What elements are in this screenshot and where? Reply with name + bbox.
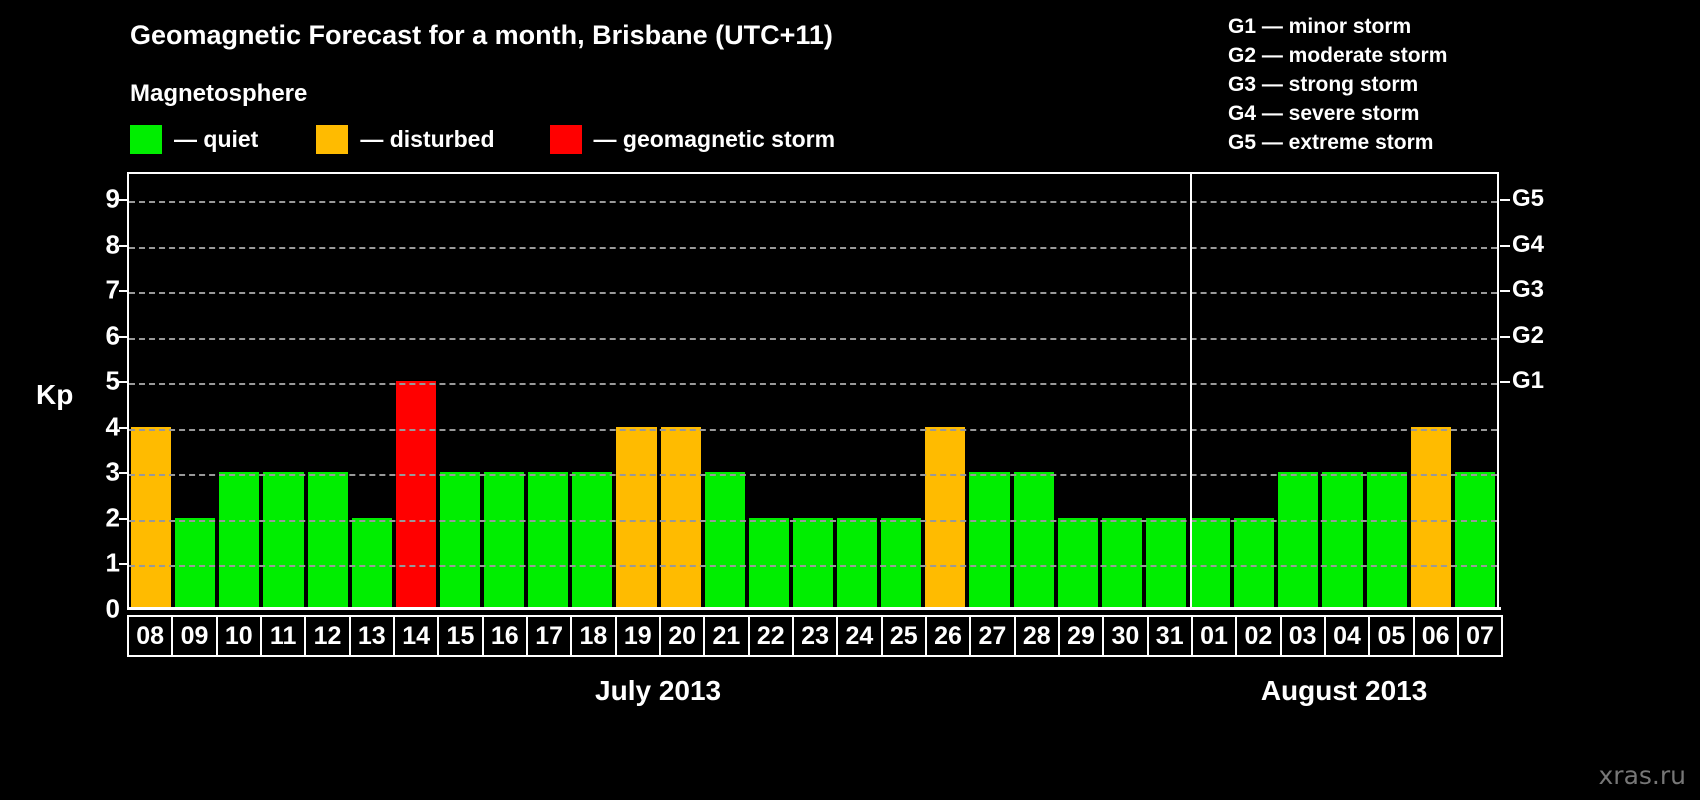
bar[interactable] [661,427,701,609]
y-tick-mark [119,199,128,201]
y-tick-label: 0 [78,594,120,625]
g-legend-row: G1 — minor storm [1228,12,1447,41]
gridline [129,429,1497,431]
y-tick-label: 1 [78,548,120,579]
y-tick-label: 8 [78,229,120,260]
bar-cell[interactable] [1276,174,1320,609]
bar-cell[interactable] [173,174,217,609]
y-tick-mark [119,290,128,292]
gridline [129,247,1497,249]
day-label[interactable]: 26 [925,615,971,657]
x-axis-line [127,607,1501,610]
g-tick-mark [1500,381,1510,383]
month-divider [1190,174,1192,609]
bar-cell[interactable] [261,174,305,609]
storm-swatch [550,125,582,154]
bar-cell[interactable] [1320,174,1364,609]
gridline [129,520,1497,522]
day-label[interactable]: 18 [570,615,616,657]
bar-cell[interactable] [570,174,614,609]
bar[interactable] [1190,518,1230,609]
bar-cell[interactable] [835,174,879,609]
bar[interactable] [749,518,789,609]
g-legend-row: G4 — severe storm [1228,99,1447,128]
day-axis: 0809101112131415161718192021222324252627… [127,615,1501,657]
bar[interactable] [1455,472,1495,609]
bar[interactable] [969,472,1009,609]
day-label[interactable]: 22 [748,615,794,657]
bar-cell[interactable] [659,174,703,609]
g-scale-legend: G1 — minor stormG2 — moderate stormG3 — … [1228,12,1447,157]
day-label[interactable]: 06 [1413,615,1459,657]
bar-cell[interactable] [1056,174,1100,609]
g-tick-mark [1500,290,1510,292]
bar[interactable] [837,518,877,609]
y-tick-label: 3 [78,457,120,488]
plot-inner [129,174,1497,609]
day-label[interactable]: 13 [349,615,395,657]
day-label[interactable]: 31 [1147,615,1193,657]
bar-cell[interactable] [923,174,967,609]
day-label[interactable]: 23 [792,615,838,657]
g-tick-label: G3 [1512,276,1544,304]
day-label[interactable]: 19 [615,615,661,657]
bar[interactable] [1014,472,1054,609]
bar[interactable] [1322,472,1362,609]
bar-cell[interactable] [747,174,791,609]
day-label[interactable]: 08 [127,615,173,657]
y-tick-label: 6 [78,320,120,351]
bar-cell[interactable] [129,174,173,609]
bar-cell[interactable] [879,174,923,609]
bar[interactable] [440,472,480,609]
day-label[interactable]: 05 [1368,615,1414,657]
watermark: xras.ru [1599,761,1687,790]
y-tick-label: 2 [78,502,120,533]
bar[interactable] [131,427,171,609]
bar-cell[interactable] [1188,174,1232,609]
bar-cell[interactable] [967,174,1011,609]
bar[interactable] [705,472,745,609]
day-label[interactable]: 30 [1102,615,1148,657]
day-label[interactable]: 25 [881,615,927,657]
y-tick-label: 5 [78,366,120,397]
bar-cell[interactable] [482,174,526,609]
y-tick-mark [119,427,128,429]
day-label[interactable]: 04 [1324,615,1370,657]
y-tick-label: 9 [78,184,120,215]
g-legend-row: G3 — strong storm [1228,70,1447,99]
disturbed-swatch [316,125,348,154]
legend-label: — disturbed [360,126,494,153]
bar-cell[interactable] [526,174,570,609]
bar-cell[interactable] [438,174,482,609]
bar[interactable] [1102,518,1142,609]
g-tick-label: G1 [1512,367,1544,395]
y-tick-mark [119,336,128,338]
legend-item: — disturbed [316,125,494,154]
bar-cell[interactable] [394,174,438,609]
bar[interactable] [1234,518,1274,609]
day-label[interactable]: 28 [1014,615,1060,657]
y-tick-mark [119,381,128,383]
gridline [129,292,1497,294]
bar[interactable] [528,472,568,609]
bar[interactable] [263,472,303,609]
bar[interactable] [793,518,833,609]
bar-cell[interactable] [1012,174,1056,609]
bar-cell[interactable] [791,174,835,609]
bar[interactable] [572,472,612,609]
legend-label: — geomagnetic storm [594,126,836,153]
day-label[interactable]: 27 [969,615,1015,657]
g-tick-label: G5 [1512,185,1544,213]
g-tick-mark [1500,336,1510,338]
bar-cell[interactable] [1232,174,1276,609]
day-label[interactable]: 07 [1457,615,1503,657]
gridline [129,338,1497,340]
day-label[interactable]: 14 [393,615,439,657]
g-tick-label: G4 [1512,231,1544,259]
bar[interactable] [352,518,392,609]
bar[interactable] [1278,472,1318,609]
legend: — quiet— disturbed— geomagnetic storm [130,125,835,154]
day-label[interactable]: 29 [1058,615,1104,657]
day-label[interactable]: 03 [1280,615,1326,657]
gridline [129,565,1497,567]
g-legend-row: G2 — moderate storm [1228,41,1447,70]
bar[interactable] [396,381,436,609]
bar-cell[interactable] [703,174,747,609]
bar[interactable] [1367,472,1407,609]
legend-item: — quiet [130,125,258,154]
bar[interactable] [881,518,921,609]
g-legend-row: G5 — extreme storm [1228,128,1447,157]
magnetosphere-label: Magnetosphere [130,80,307,108]
plot-area [127,172,1499,609]
gridline [129,474,1497,476]
g-tick-mark [1500,199,1510,201]
bar[interactable] [1411,427,1451,609]
bar-cell[interactable] [350,174,394,609]
y-tick-mark [119,245,128,247]
month-label: July 2013 [127,675,1189,707]
y-tick-mark [119,518,128,520]
day-label[interactable]: 02 [1235,615,1281,657]
bar[interactable] [308,472,348,609]
day-label[interactable]: 01 [1191,615,1237,657]
day-label[interactable]: 09 [171,615,217,657]
bar[interactable] [484,472,524,609]
bar-cell[interactable] [1409,174,1453,609]
page-title: Geomagnetic Forecast for a month, Brisba… [130,20,833,51]
bar-cell[interactable] [306,174,350,609]
y-tick-mark [119,563,128,565]
bar[interactable] [925,427,965,609]
bar[interactable] [175,518,215,609]
day-label[interactable]: 12 [304,615,350,657]
y-tick-label: 4 [78,411,120,442]
y-axis-labels: 0123456789 [78,172,120,609]
geomagnetic-forecast-chart: Geomagnetic Forecast for a month, Brisba… [0,0,1700,800]
day-label[interactable]: 21 [703,615,749,657]
quiet-swatch [130,125,162,154]
gridline [129,383,1497,385]
bar-cell[interactable] [1100,174,1144,609]
day-label[interactable]: 10 [216,615,262,657]
legend-item: — geomagnetic storm [550,125,836,154]
bar[interactable] [219,472,259,609]
day-label[interactable]: 15 [437,615,483,657]
bar-series [129,174,1497,609]
bar[interactable] [1146,518,1186,609]
day-label[interactable]: 20 [659,615,705,657]
y-tick-mark [119,472,128,474]
bar-cell[interactable] [1365,174,1409,609]
y-tick-label: 7 [78,275,120,306]
bar-cell[interactable] [1453,174,1497,609]
gridline [129,201,1497,203]
bar-cell[interactable] [1144,174,1188,609]
day-label[interactable]: 17 [526,615,572,657]
bar[interactable] [1058,518,1098,609]
day-label[interactable]: 16 [482,615,528,657]
day-label[interactable]: 11 [260,615,306,657]
g-axis-labels: G1G2G3G4G5 [1512,172,1592,609]
bar-cell[interactable] [614,174,658,609]
g-tick-mark [1500,245,1510,247]
day-label[interactable]: 24 [836,615,882,657]
month-label: August 2013 [1189,675,1499,707]
bar-cell[interactable] [217,174,261,609]
g-tick-label: G2 [1512,322,1544,350]
legend-label: — quiet [174,126,258,153]
y-axis-title: Kp [36,379,73,411]
bar[interactable] [616,427,656,609]
